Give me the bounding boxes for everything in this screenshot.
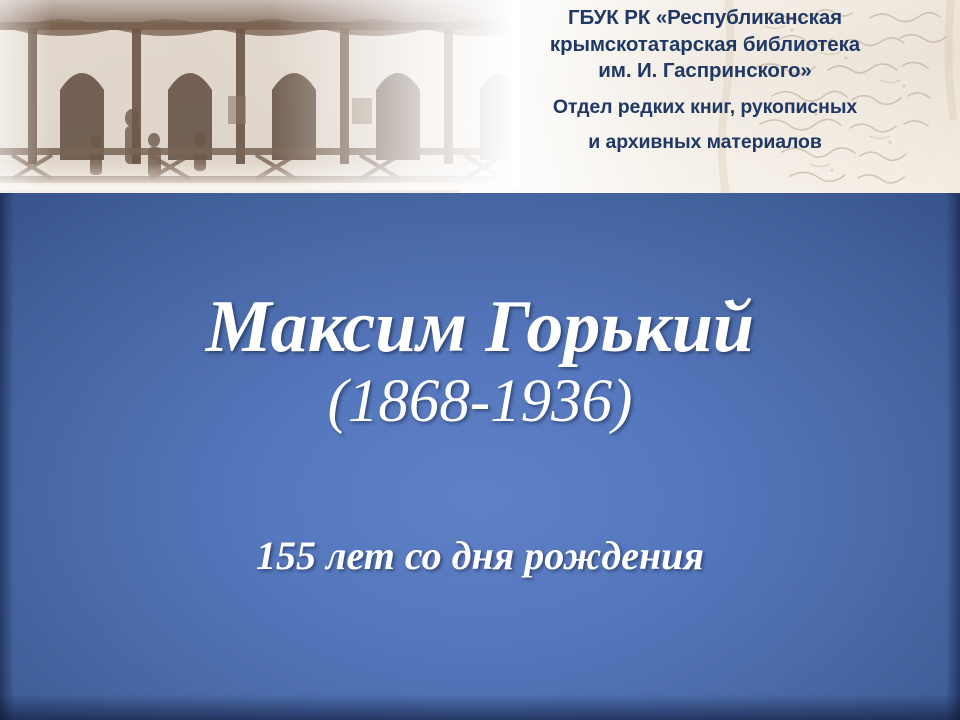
anniversary-subtitle: 155 лет со дня рождения xyxy=(0,536,960,576)
organization-line-2: крымскотатарская библиотека xyxy=(480,32,930,59)
historic-building-photo xyxy=(0,0,520,190)
panel-bottom-vignette xyxy=(0,694,960,720)
department-text-block: Отдел редких книг, рукописных и архивных… xyxy=(480,95,930,156)
department-line-2: и архивных материалов xyxy=(480,130,930,155)
slide-body: Максим Горький (1868-1936) 155 лет со дн… xyxy=(0,193,960,720)
organization-line-1: ГБУК РК «Республиканская xyxy=(480,5,930,32)
organization-line-3: им. И. Гаспринского» xyxy=(480,58,930,85)
life-dates: (1868-1936) xyxy=(0,371,960,432)
page-title: Максим Горький xyxy=(0,290,960,364)
presentation-slide: ГБУК РК «Республиканская крымскотатарска… xyxy=(0,0,960,720)
organization-text-block: ГБУК РК «Республиканская крымскотатарска… xyxy=(480,5,930,156)
panel-right-vignette xyxy=(946,193,960,720)
slide-header: ГБУК РК «Республиканская крымскотатарска… xyxy=(0,0,960,193)
photo-building-illustration xyxy=(0,0,520,190)
panel-left-vignette xyxy=(0,193,14,720)
department-line-1: Отдел редких книг, рукописных xyxy=(480,95,930,120)
